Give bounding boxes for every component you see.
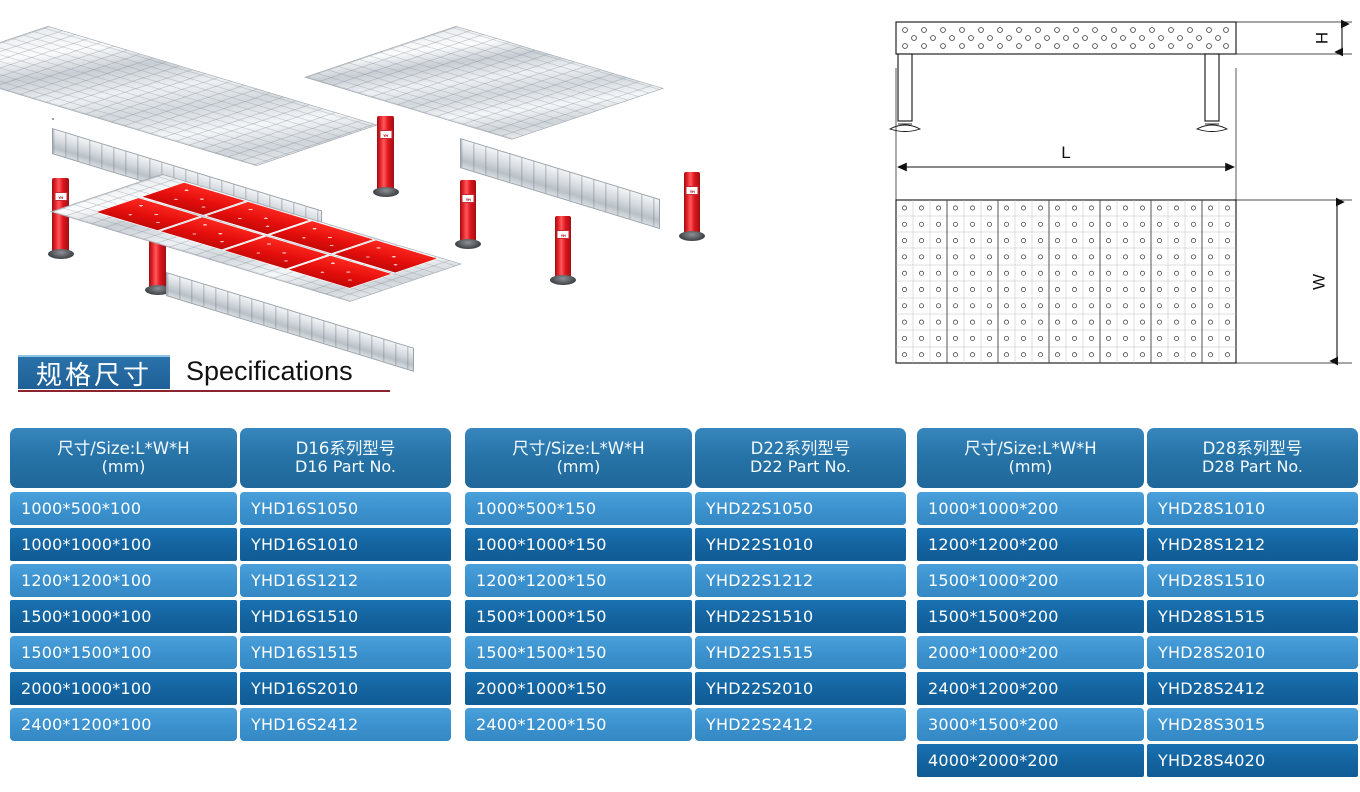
- table-header-row: 尺寸/Size:L*W*H(mm)D16系列型号D16 Part No.: [10, 428, 451, 488]
- cell-part-no: YHD28S2010: [1147, 636, 1358, 669]
- table-row: 1000*1000*100YHD16S1010: [10, 528, 451, 561]
- header-part-line2: D28 Part No.: [1202, 458, 1303, 477]
- banner-chinese-title: 规格尺寸: [36, 355, 152, 392]
- spec-table-d16: 尺寸/Size:L*W*H(mm)D16系列型号D16 Part No.1000…: [10, 428, 451, 744]
- cell-part-no: YHD16S2412: [240, 708, 451, 741]
- table-row: 2000*1000*150YHD22S2010: [465, 672, 906, 705]
- header-part-line2: D22 Part No.: [750, 458, 851, 477]
- technical-drawings: H L: [880, 0, 1360, 400]
- cell-size: 1000*1000*200: [917, 492, 1144, 525]
- header-cell-part-no: D28系列型号D28 Part No.: [1147, 428, 1358, 488]
- cell-size: 1000*500*150: [465, 492, 692, 525]
- cell-size: 1500*1500*100: [10, 636, 237, 669]
- spec-table-d22: 尺寸/Size:L*W*H(mm)D22系列型号D22 Part No.1000…: [465, 428, 906, 744]
- cell-part-no: YHD16S2010: [240, 672, 451, 705]
- cell-part-no: YHD28S2412: [1147, 672, 1358, 705]
- table-row: 1500*1000*150YHD22S1510: [465, 600, 906, 633]
- table-row: 2400*1200*200YHD28S2412: [917, 672, 1358, 705]
- header-size-line2: (mm): [102, 458, 146, 477]
- table-row: 1200*1200*100YHD16S1212: [10, 564, 451, 597]
- table-leg: YH: [555, 216, 571, 278]
- cell-part-no: YHD22S1515: [695, 636, 906, 669]
- table-row: 2400*1200*150YHD22S2412: [465, 708, 906, 741]
- cell-part-no: YHD28S1010: [1147, 492, 1358, 525]
- cell-part-no: YHD28S1212: [1147, 528, 1358, 561]
- header-cell-size: 尺寸/Size:L*W*H(mm): [10, 428, 237, 488]
- cell-size: 1200*1200*100: [10, 564, 237, 597]
- cell-size: 1000*1000*100: [10, 528, 237, 561]
- cell-size: 2000*1000*100: [10, 672, 237, 705]
- table-row: 2400*1200*100YHD16S2412: [10, 708, 451, 741]
- table-row: 1000*500*100YHD16S1050: [10, 492, 451, 525]
- specification-tables: 尺寸/Size:L*W*H(mm)D16系列型号D16 Part No.1000…: [0, 428, 1360, 788]
- banner-english-title: Specifications: [186, 356, 353, 387]
- cell-part-no: YHD28S1510: [1147, 564, 1358, 597]
- cell-size: 1500*1500*150: [465, 636, 692, 669]
- header-size-line1: 尺寸/Size:L*W*H: [512, 439, 644, 458]
- cell-part-no: YHD22S1510: [695, 600, 906, 633]
- leg-brand-badge: YH: [379, 130, 392, 139]
- cell-part-no: YHD22S2412: [695, 708, 906, 741]
- cell-size: 2400*1200*150: [465, 708, 692, 741]
- table-row: 1200*1200*150YHD22S1212: [465, 564, 906, 597]
- cell-size: 2000*1000*200: [917, 636, 1144, 669]
- header-size-line1: 尺寸/Size:L*W*H: [57, 439, 189, 458]
- cell-size: 2000*1000*150: [465, 672, 692, 705]
- cell-part-no: YHD16S1010: [240, 528, 451, 561]
- cell-size: 2400*1200*100: [10, 708, 237, 741]
- product-images: YH YH YH YH YH YH: [0, 0, 860, 340]
- leg-brand-badge: YH: [557, 230, 570, 239]
- header-size-line2: (mm): [557, 458, 601, 477]
- table-row: 1200*1200*200YHD28S1212: [917, 528, 1358, 561]
- cell-part-no: YHD28S3015: [1147, 708, 1358, 741]
- header-cell-part-no: D16系列型号D16 Part No.: [240, 428, 451, 488]
- cell-size: 4000*2000*200: [917, 744, 1144, 777]
- table-row: 3000*1500*200YHD28S3015: [917, 708, 1358, 741]
- table-row: 1000*1000*150YHD22S1010: [465, 528, 906, 561]
- table-leg: YH: [684, 172, 700, 234]
- table-row: 2000*1000*100YHD16S2010: [10, 672, 451, 705]
- cell-size: 1000*500*100: [10, 492, 237, 525]
- header-part-line1: D22系列型号: [751, 439, 851, 458]
- cell-part-no: YHD28S1515: [1147, 600, 1358, 633]
- header-cell-size: 尺寸/Size:L*W*H(mm): [917, 428, 1144, 488]
- plan-view: L: [896, 68, 1352, 363]
- table-row: 1500*1500*200YHD28S1515: [917, 600, 1358, 633]
- table-row: 1500*1500*100YHD16S1515: [10, 636, 451, 669]
- cell-part-no: YHD22S1212: [695, 564, 906, 597]
- cell-size: 1500*1500*200: [917, 600, 1144, 633]
- length-dimension-label: L: [1061, 143, 1070, 162]
- cell-size: 3000*1500*200: [917, 708, 1144, 741]
- spec-sheet-page: YH YH YH YH YH YH: [0, 0, 1360, 792]
- cell-part-no: YHD16S1510: [240, 600, 451, 633]
- header-part-line2: D16 Part No.: [295, 458, 396, 477]
- cell-part-no: YHD22S2010: [695, 672, 906, 705]
- table-row: 1500*1000*200YHD28S1510: [917, 564, 1358, 597]
- header-size-line2: (mm): [1009, 458, 1053, 477]
- section-banner: 规格尺寸 Specifications: [18, 355, 718, 397]
- table-row: 1000*500*150YHD22S1050: [465, 492, 906, 525]
- table-row: 4000*2000*200YHD28S4020: [917, 744, 1358, 777]
- cell-size: 1500*1000*100: [10, 600, 237, 633]
- cell-size: 1200*1200*200: [917, 528, 1144, 561]
- cell-part-no: YHD16S1212: [240, 564, 451, 597]
- elevation-view: H: [890, 22, 1352, 132]
- header-cell-size: 尺寸/Size:L*W*H(mm): [465, 428, 692, 488]
- elevation-foot-pad: [890, 124, 1227, 132]
- cell-part-no: YHD28S4020: [1147, 744, 1358, 777]
- drawing-svg: H L: [880, 0, 1360, 400]
- table-row: 2000*1000*200YHD28S2010: [917, 636, 1358, 669]
- cell-part-no: YHD22S1010: [695, 528, 906, 561]
- header-part-line1: D16系列型号: [296, 439, 396, 458]
- table-header-row: 尺寸/Size:L*W*H(mm)D28系列型号D28 Part No.: [917, 428, 1358, 488]
- width-dimension-label: W: [1309, 274, 1328, 290]
- header-cell-part-no: D22系列型号D22 Part No.: [695, 428, 906, 488]
- banner-underline: [18, 390, 390, 392]
- table-side-face: [52, 118, 54, 120]
- table-row: 1500*1000*100YHD16S1510: [10, 600, 451, 633]
- header-size-line1: 尺寸/Size:L*W*H: [964, 439, 1096, 458]
- leg-brand-badge: YH: [54, 192, 67, 201]
- table-header-row: 尺寸/Size:L*W*H(mm)D22系列型号D22 Part No.: [465, 428, 906, 488]
- cell-part-no: YHD16S1515: [240, 636, 451, 669]
- banner-chinese-box: 规格尺寸: [18, 355, 170, 389]
- table-row: 1500*1500*150YHD22S1515: [465, 636, 906, 669]
- inverted-table-underside: [142, 168, 522, 328]
- header-part-line1: D28系列型号: [1203, 439, 1303, 458]
- cell-part-no: YHD16S1050: [240, 492, 451, 525]
- table-row: 1000*1000*200YHD28S1010: [917, 492, 1358, 525]
- cell-size: 2400*1200*200: [917, 672, 1144, 705]
- cell-size: 1000*1000*150: [465, 528, 692, 561]
- height-dimension-label: H: [1312, 32, 1331, 44]
- leg-brand-badge: YH: [686, 186, 699, 195]
- cell-size: 1500*1000*150: [465, 600, 692, 633]
- cell-size: 1200*1200*150: [465, 564, 692, 597]
- cell-part-no: YHD22S1050: [695, 492, 906, 525]
- elevation-leg: [898, 54, 1219, 121]
- cell-size: 1500*1000*200: [917, 564, 1144, 597]
- spec-table-d28: 尺寸/Size:L*W*H(mm)D28系列型号D28 Part No.1000…: [917, 428, 1358, 780]
